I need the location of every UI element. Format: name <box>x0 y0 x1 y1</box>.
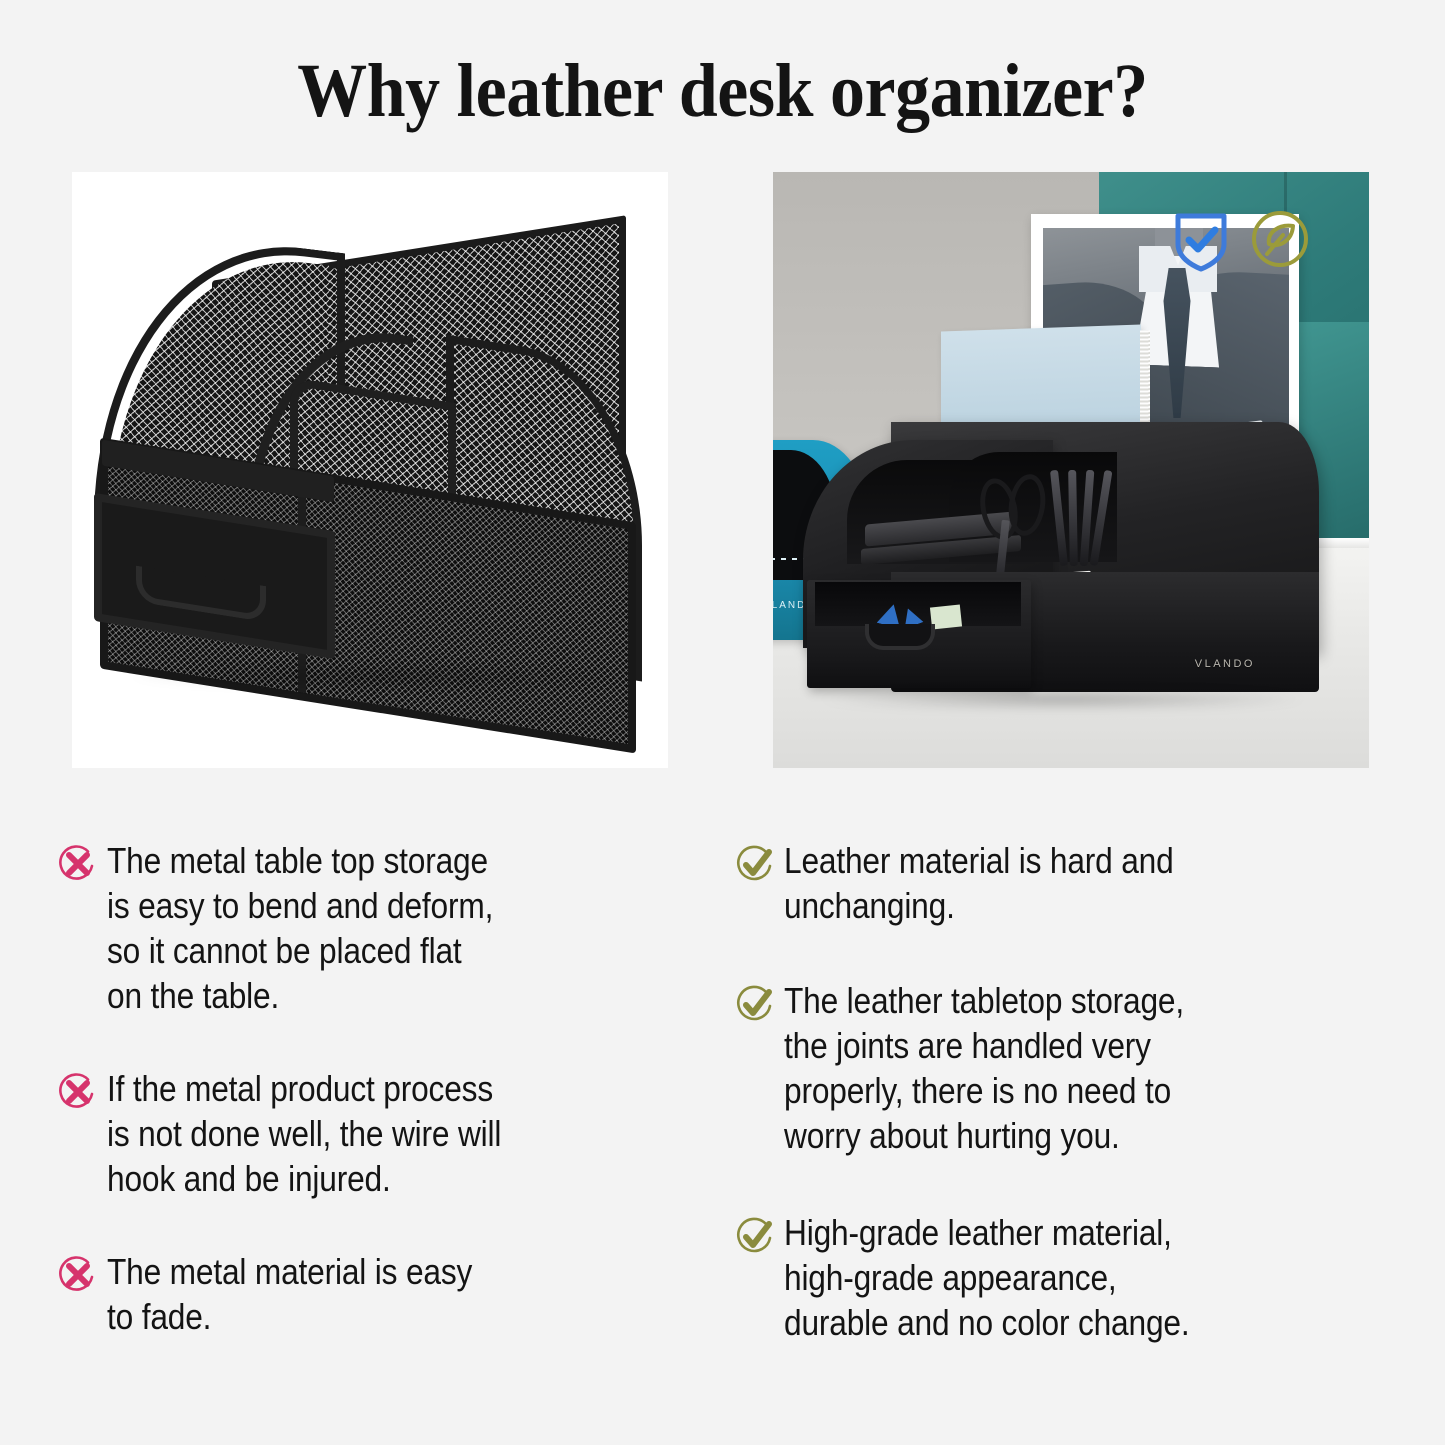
cons-bullet: The metal material is easy to fade. <box>58 1249 698 1339</box>
leather-organizer: VLANDO <box>803 422 1323 732</box>
pros-column: Leather material is hard and unchanging.… <box>735 838 1375 1345</box>
mesh-organizer-scene <box>72 172 668 768</box>
check-circle-icon <box>735 844 775 884</box>
cons-column: The metal table top storage is easy to b… <box>58 838 698 1339</box>
cross-circle-icon <box>58 1255 98 1295</box>
cross-circle-icon <box>58 1072 98 1112</box>
pros-bullet-text: Leather material is hard and unchanging. <box>784 838 1174 928</box>
organizer-drawer <box>807 580 1031 688</box>
pros-bullet: High-grade leather material, high-grade … <box>735 1210 1375 1345</box>
leather-organizer-scene: VLANDO <box>773 172 1369 768</box>
shield-check-badge-icon <box>1173 210 1229 272</box>
cross-circle-icon <box>58 844 98 884</box>
cons-bullet: If the metal product process is not done… <box>58 1066 698 1201</box>
pen <box>1068 470 1078 566</box>
pros-bullet: The leather tabletop storage, the joints… <box>735 978 1375 1158</box>
page-title: Why leather desk organizer? <box>58 48 1387 134</box>
mesh-drawer-handle <box>136 566 266 623</box>
organizer-drop-shadow <box>813 688 1313 710</box>
cons-bullet-text: The metal table top storage is easy to b… <box>107 838 493 1018</box>
cons-bullet-text: The metal material is easy to fade. <box>107 1249 472 1339</box>
pen-group <box>1053 470 1109 566</box>
drawer-interior <box>815 582 1021 626</box>
cons-bullet-text: If the metal product process is not done… <box>107 1066 501 1201</box>
product-image-leather-organizer: VLANDO <box>773 172 1369 768</box>
drawer-pull-notch <box>865 624 935 650</box>
product-image-metal-organizer <box>72 172 668 768</box>
check-circle-icon <box>735 984 775 1024</box>
pros-bullet-text: High-grade leather material, high-grade … <box>784 1210 1189 1345</box>
leaf-eco-badge-icon <box>1249 208 1311 270</box>
mesh-drop-shadow <box>130 664 630 690</box>
organizer-brand-text: VLANDO <box>1195 658 1255 670</box>
pen <box>1050 470 1068 566</box>
check-circle-icon <box>735 1216 775 1256</box>
pros-bullet-text: The leather tabletop storage, the joints… <box>784 978 1184 1158</box>
mesh-organizer-body <box>94 230 646 730</box>
pros-bullet: Leather material is hard and unchanging. <box>735 838 1375 928</box>
infographic-page: Why leather desk organizer? <box>0 0 1445 1445</box>
cons-bullet: The metal table top storage is easy to b… <box>58 838 698 1018</box>
